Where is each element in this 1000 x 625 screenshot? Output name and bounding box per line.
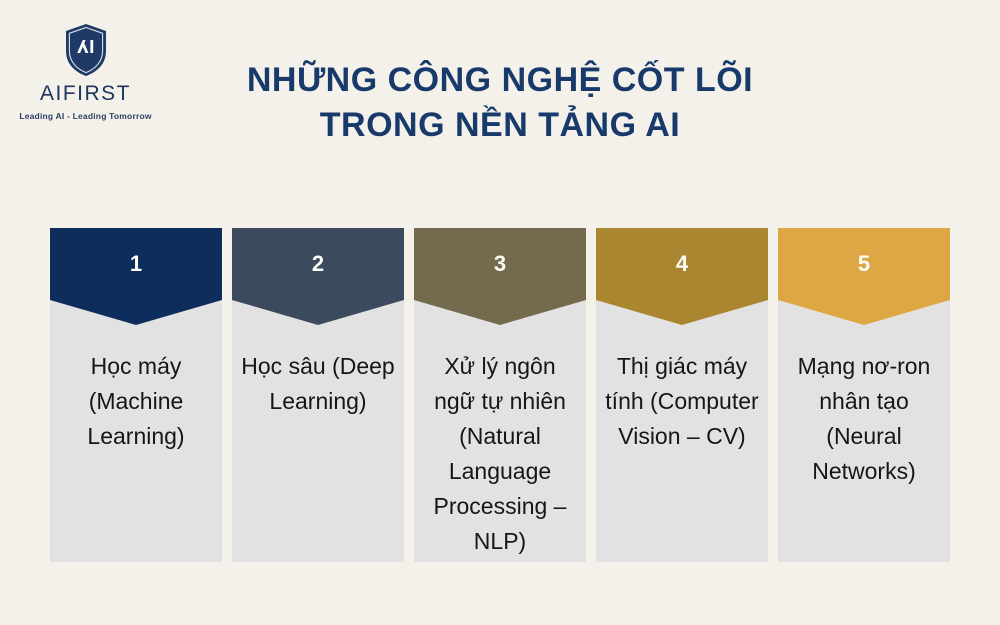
- card-5-header: 5: [778, 228, 950, 325]
- card-1[interactable]: 1 Học máy (Machine Learning): [50, 228, 222, 562]
- card-3-label: Xử lý ngôn ngữ tự nhiên (Natural Languag…: [414, 325, 586, 569]
- card-2-header: 2: [232, 228, 404, 325]
- card-3[interactable]: 3 Xử lý ngôn ngữ tự nhiên (Natural Langu…: [414, 228, 586, 562]
- brand-wordmark: AIFIRST: [18, 82, 153, 106]
- card-1-number: 1: [50, 228, 222, 300]
- card-5[interactable]: 5 Mạng nơ-ron nhân tạo (Neural Networks): [778, 228, 950, 562]
- header-area: AIFIRST Leading AI - Leading Tomorrow NH…: [0, 0, 1000, 180]
- page-title-line-1: NHỮNG CÔNG NGHỆ CỐT LÕI: [180, 58, 820, 103]
- card-2-number: 2: [232, 228, 404, 300]
- cards-row: 1 Học máy (Machine Learning) 2 Học sâu (…: [50, 228, 950, 562]
- card-3-number: 3: [414, 228, 586, 300]
- page-title-line-2: TRONG NỀN TẢNG AI: [180, 103, 820, 148]
- card-4[interactable]: 4 Thị giác máy tính (Computer Vision – C…: [596, 228, 768, 562]
- card-1-label: Học máy (Machine Learning): [50, 325, 222, 562]
- card-2-label: Học sâu (Deep Learning): [232, 325, 404, 562]
- card-3-header: 3: [414, 228, 586, 325]
- card-4-header: 4: [596, 228, 768, 325]
- card-5-label: Mạng nơ-ron nhân tạo (Neural Networks): [778, 325, 950, 562]
- shield-ai-icon: [18, 22, 153, 78]
- card-2[interactable]: 2 Học sâu (Deep Learning): [232, 228, 404, 562]
- page-title: NHỮNG CÔNG NGHỆ CỐT LÕI TRONG NỀN TẢNG A…: [180, 58, 820, 148]
- card-4-label: Thị giác máy tính (Computer Vision – CV): [596, 325, 768, 562]
- card-1-header: 1: [50, 228, 222, 325]
- brand-logo: AIFIRST Leading AI - Leading Tomorrow: [18, 22, 153, 121]
- card-5-number: 5: [778, 228, 950, 300]
- card-4-number: 4: [596, 228, 768, 300]
- brand-tagline: Leading AI - Leading Tomorrow: [18, 111, 153, 121]
